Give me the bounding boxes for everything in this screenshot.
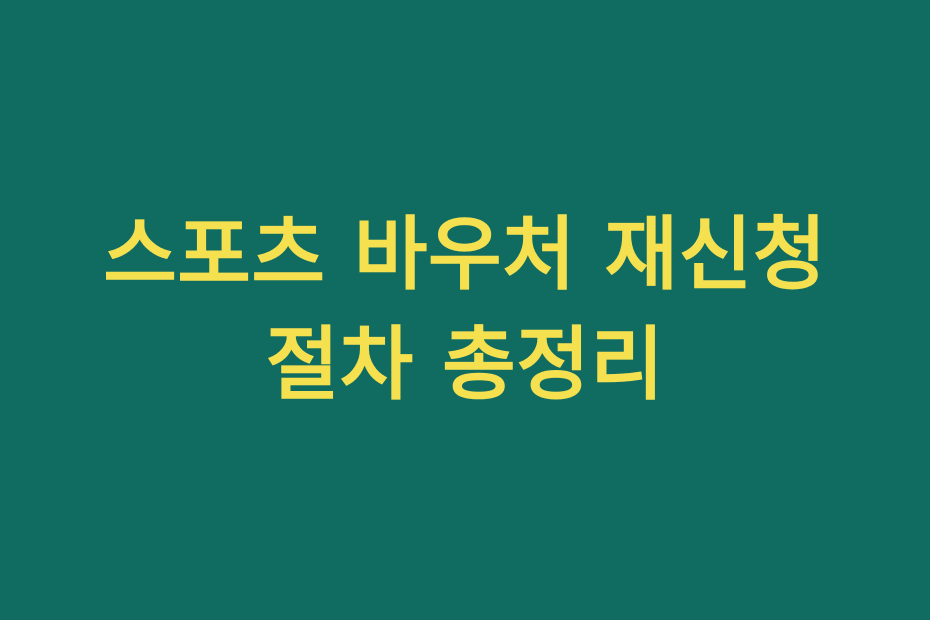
title-block: 스포츠 바우처 재신청 절차 총정리 bbox=[65, 200, 865, 420]
title-card: 스포츠 바우처 재신청 절차 총정리 bbox=[0, 0, 930, 620]
page-title: 스포츠 바우처 재신청 절차 총정리 bbox=[69, 200, 861, 420]
